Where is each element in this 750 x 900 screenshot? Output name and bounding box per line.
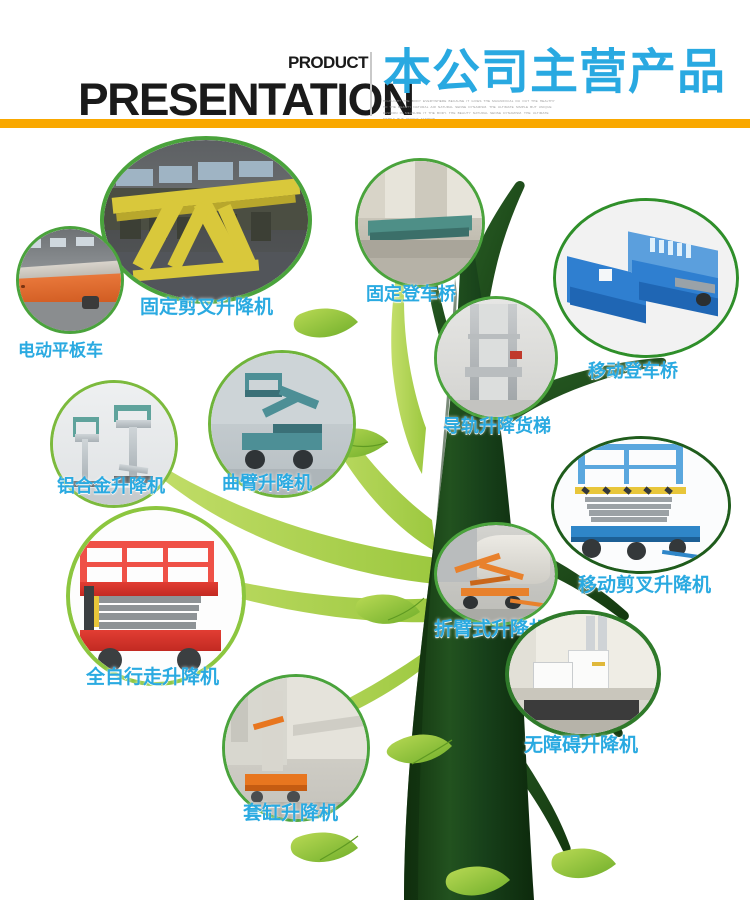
product-photo-guide-rail-cargo-lift[interactable]: [434, 296, 558, 420]
product-photo-fixed-scissor-lift[interactable]: [100, 136, 312, 304]
product-label-self-propelled-lift: 全自行走升降机: [86, 668, 219, 687]
product-photo-mobile-dock-ramp[interactable]: [553, 198, 739, 358]
product-label-articulated-boom-lift: 曲臂升降机: [222, 475, 312, 493]
product-photo-self-propelled-lift[interactable]: [66, 506, 246, 686]
product-photo-telescopic-cylinder-lift[interactable]: [222, 674, 370, 822]
product-label-guide-rail-cargo-lift: 导轨升降货梯: [443, 418, 551, 436]
page-header: PRESENTATION PRODUCT 本公司主营产品 HIGHLIGHT T…: [0, 0, 750, 128]
product-label-telescopic-cylinder-lift: 套缸升降机: [243, 804, 338, 823]
product-label-mobile-dock-ramp: 移动登车桥: [588, 363, 678, 381]
product-photo-electric-flatbed-cart[interactable]: [16, 226, 124, 334]
header-chinese-title: 本公司主营产品: [383, 48, 726, 96]
product-label-mobile-scissor-lift: 移动剪叉升降机: [578, 576, 711, 595]
product-photo-fixed-dock-leveler[interactable]: [355, 158, 485, 288]
product-label-fixed-scissor-lift: 固定剪叉升降机: [140, 298, 273, 317]
header-divider-rule: [370, 52, 372, 116]
product-photo-barrier-free-lift[interactable]: [505, 610, 661, 738]
product-photo-folding-arm-lift[interactable]: [434, 522, 558, 626]
product-label-aluminium-alloy-lift: 铝合金升降机: [57, 478, 165, 496]
header-orange-divider-bar: [0, 119, 750, 128]
header-title-product: PRODUCT: [288, 54, 368, 71]
header-title-presentation: PRESENTATION: [78, 77, 414, 122]
product-tree-stage: 固定剪叉升降机 电动平板车: [0, 128, 750, 900]
product-label-electric-flatbed-cart: 电动平板车: [18, 343, 103, 360]
header-english-title: PRESENTATION PRODUCT: [78, 70, 368, 118]
header-inner: PRESENTATION PRODUCT 本公司主营产品 HIGHLIGHT T…: [0, 18, 750, 114]
product-label-barrier-free-lift: 无障碍升降机: [524, 736, 638, 755]
product-photo-mobile-scissor-lift[interactable]: [551, 436, 731, 574]
